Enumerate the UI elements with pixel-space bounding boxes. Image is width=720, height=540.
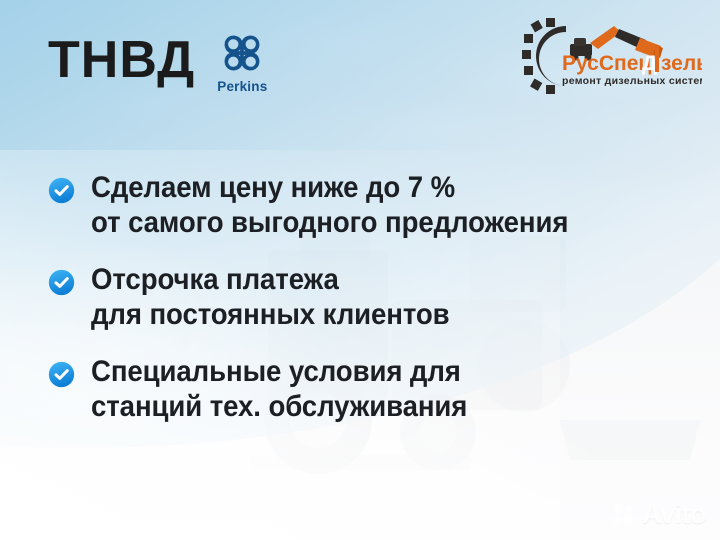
list-item: Отсрочка платежа для постоянных клиентов [48, 262, 648, 332]
header: ТНВД Perkins [0, 0, 720, 140]
list-item: Специальные условия для станций тех. обс… [48, 354, 648, 424]
company-logo: РусСпец Д зель ремонт дизельных систем [522, 18, 702, 94]
list-item-label: Сделаем цену ниже до 7 % от самого выгод… [91, 170, 568, 240]
list-item-label: Специальные условия для станций тех. обс… [91, 354, 467, 424]
list-item-label: Отсрочка платежа для постоянных клиентов [91, 262, 450, 332]
logo-wordmark-part2: Д [642, 52, 657, 75]
check-circle-icon [48, 361, 75, 388]
logo-wordmark-part3: зель [661, 52, 702, 75]
gear-icon [522, 18, 566, 94]
logo-tagline: ремонт дизельных систем [562, 75, 702, 87]
check-circle-icon [48, 177, 75, 204]
brand-row: ТНВД Perkins [48, 28, 267, 94]
perkins-wordmark: Perkins [217, 79, 267, 94]
benefits-list: Сделаем цену ниже до 7 % от самого выгод… [48, 170, 648, 425]
perkins-knot-icon [219, 30, 265, 76]
promo-banner: ТНВД Perkins [0, 0, 720, 540]
list-item: Сделаем цену ниже до 7 % от самого выгод… [48, 170, 648, 240]
avito-dots-icon [611, 502, 637, 528]
check-circle-icon [48, 269, 75, 296]
logo-wordmark-part1: РусСпец [562, 52, 651, 75]
page-title: ТНВД [48, 34, 195, 86]
avito-watermark: Avito [611, 499, 706, 530]
avito-wordmark: Avito [642, 499, 706, 530]
partner-brand-perkins: Perkins [217, 30, 267, 94]
